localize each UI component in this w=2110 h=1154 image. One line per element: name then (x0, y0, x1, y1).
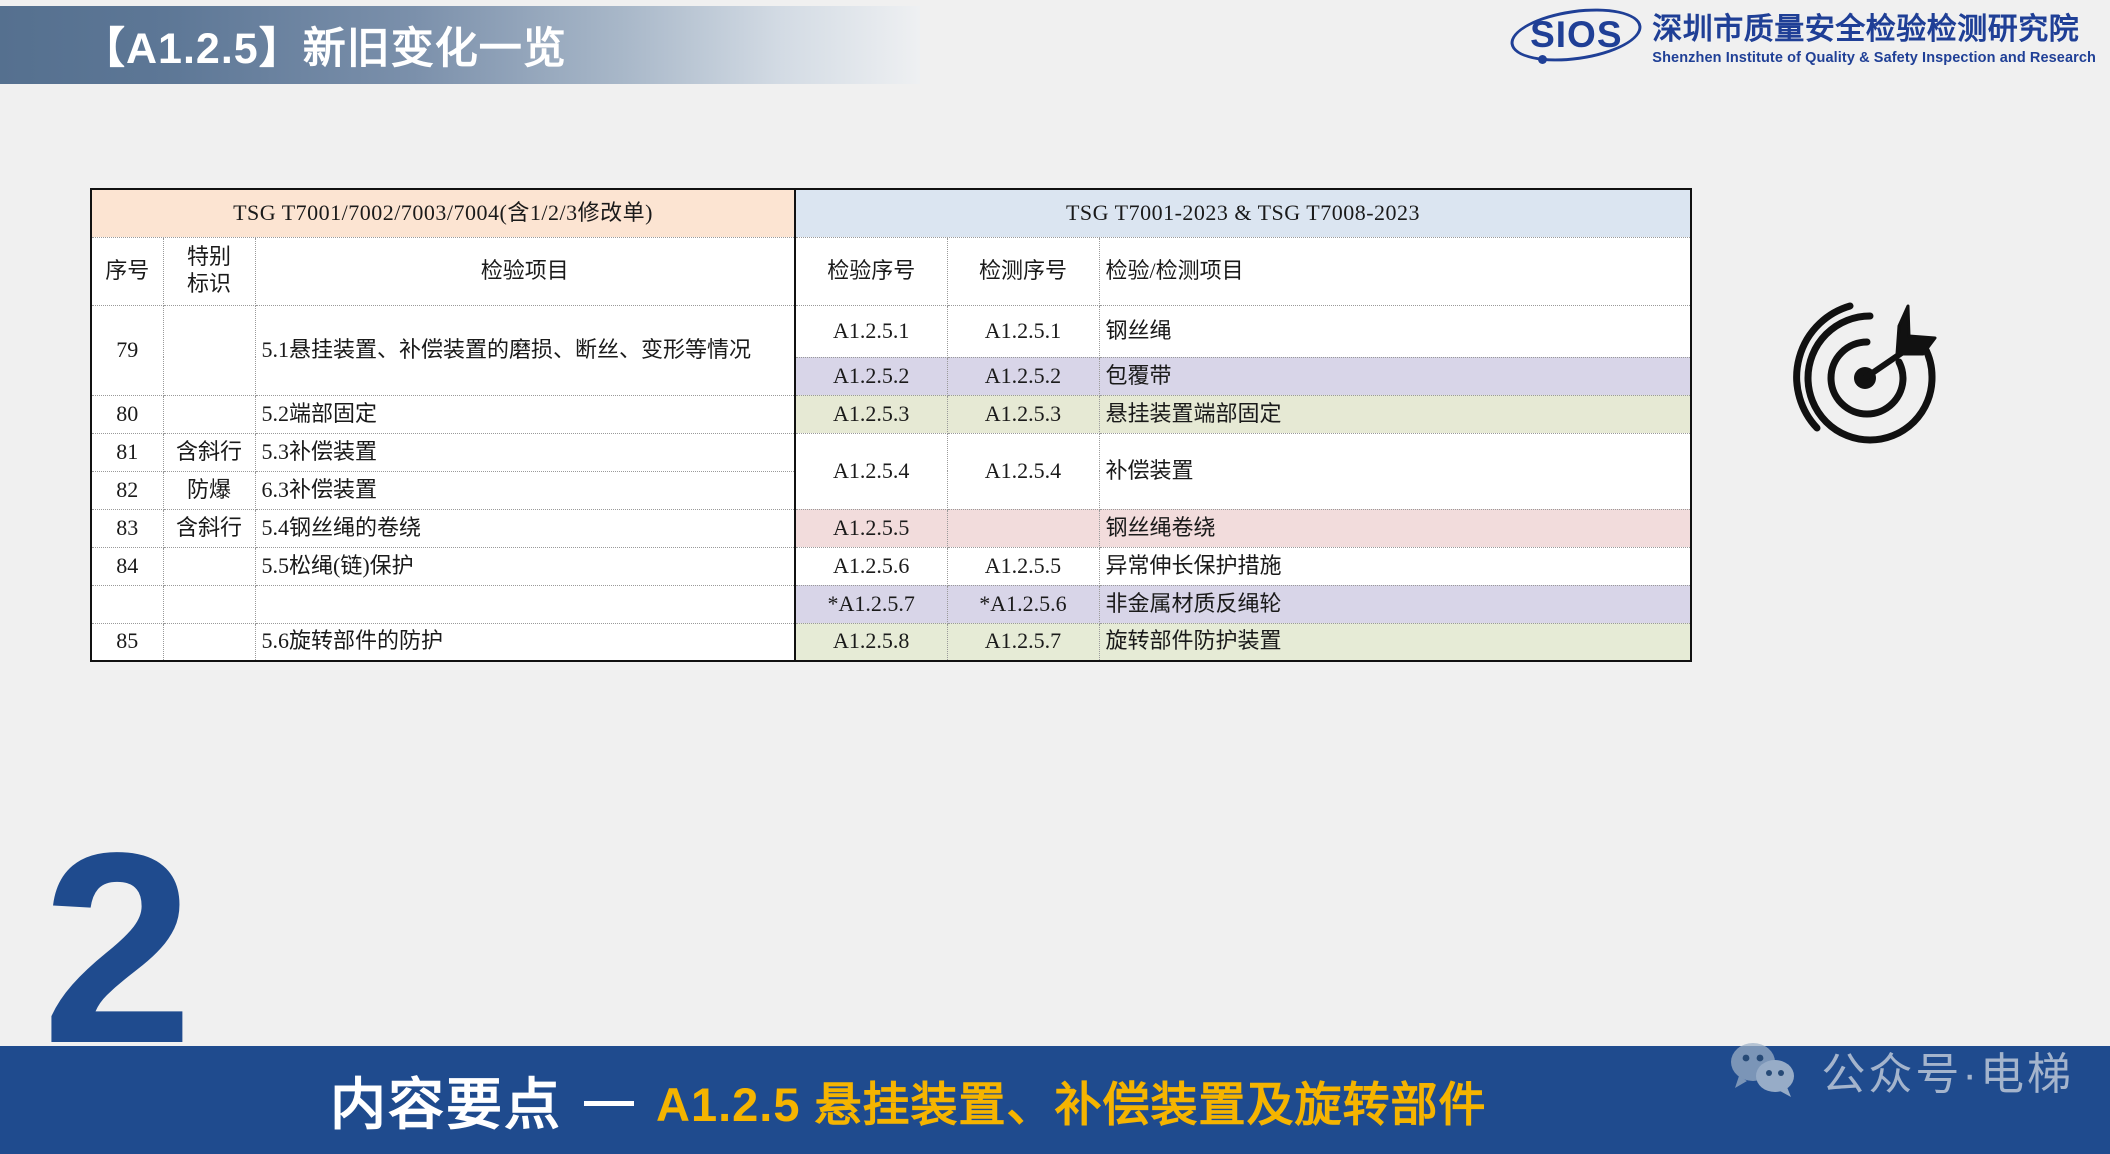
table-row: 83 含斜行 5.4钢丝绳的卷绕 A1.2.5.5 钢丝绳卷绕 (91, 509, 1691, 547)
cell-new-test: A1.2.5.1 (947, 305, 1099, 357)
table-row: 79 5.1悬挂装置、补偿装置的磨损、断丝、变形等情况 A1.2.5.1 A1.… (91, 305, 1691, 357)
cell-old-mark: 含斜行 (163, 433, 255, 471)
col-header-special-mark: 特别 标识 (163, 237, 255, 305)
group-header-old: TSG T7001/7002/7003/7004(含1/2/3修改单) (91, 189, 795, 237)
cell-old-mark: 含斜行 (163, 509, 255, 547)
col-header-special-mark-line2: 标识 (170, 271, 249, 298)
cell-old-item: 5.1悬挂装置、补偿装置的磨损、断丝、变形等情况 (255, 305, 795, 395)
cell-old-seq: 84 (91, 547, 163, 585)
cell-old-seq: 81 (91, 433, 163, 471)
cell-old-mark (163, 623, 255, 661)
cell-old-mark (163, 305, 255, 395)
group-header-new: TSG T7001-2023 & TSG T7008-2023 (795, 189, 1691, 237)
cell-new-test: A1.2.5.3 (947, 395, 1099, 433)
cell-new-item: 钢丝绳卷绕 (1099, 509, 1691, 547)
cell-new-insp: A1.2.5.6 (795, 547, 947, 585)
cell-new-insp: A1.2.5.8 (795, 623, 947, 661)
sios-logo-icon: SIOS (1510, 4, 1642, 66)
col-header-special-mark-line1: 特别 (170, 244, 249, 271)
section-number: 2 (42, 812, 193, 1084)
cell-new-test: *A1.2.5.6 (947, 585, 1099, 623)
cell-new-test: A1.2.5.4 (947, 433, 1099, 509)
watermark-text: 公众号·电梯 (1821, 1038, 2074, 1102)
cell-new-insp: A1.2.5.4 (795, 433, 947, 509)
cell-new-test: A1.2.5.2 (947, 357, 1099, 395)
comparison-table: TSG T7001/7002/7003/7004(含1/2/3修改单) TSG … (90, 188, 1692, 662)
organization-logo: SIOS 深圳市质量安全检验检测研究院 Shenzhen Institute o… (1510, 4, 2096, 66)
cell-new-item: 非金属材质反绳轮 (1099, 585, 1691, 623)
cell-new-insp: A1.2.5.2 (795, 357, 947, 395)
cell-old-item: 5.3补偿装置 (255, 433, 795, 471)
cell-old-seq: 79 (91, 305, 163, 395)
table-row: 84 5.5松绳(链)保护 A1.2.5.6 A1.2.5.5 异常伸长保护措施 (91, 547, 1691, 585)
cell-new-item: 异常伸长保护措施 (1099, 547, 1691, 585)
cell-old-item: 5.2端部固定 (255, 395, 795, 433)
cell-new-test: A1.2.5.7 (947, 623, 1099, 661)
table-group-header-row: TSG T7001/7002/7003/7004(含1/2/3修改单) TSG … (91, 189, 1691, 237)
cell-new-item: 钢丝绳 (1099, 305, 1691, 357)
cell-new-test: A1.2.5.5 (947, 547, 1099, 585)
cell-old-mark (163, 547, 255, 585)
cell-new-insp: *A1.2.5.7 (795, 585, 947, 623)
logo-dot-icon (1538, 55, 1547, 64)
wechat-icon (1725, 1040, 1803, 1100)
table-column-header-row: 序号 特别 标识 检验项目 检验序号 检测序号 检验/检测项目 (91, 237, 1691, 305)
cell-new-item: 悬挂装置端部固定 (1099, 395, 1691, 433)
table-row: *A1.2.5.7 *A1.2.5.6 非金属材质反绳轮 (91, 585, 1691, 623)
cell-new-insp: A1.2.5.1 (795, 305, 947, 357)
cell-old-item: 5.5松绳(链)保护 (255, 547, 795, 585)
cell-old-seq: 83 (91, 509, 163, 547)
cell-new-insp: A1.2.5.5 (795, 509, 947, 547)
target-arrow-icon (1775, 290, 1975, 465)
cell-old-mark (163, 395, 255, 433)
logo-text-block: 深圳市质量安全检验检测研究院 Shenzhen Institute of Qua… (1652, 4, 2096, 66)
wechat-watermark: 公众号·电梯 (1725, 1038, 2074, 1102)
cell-old-item (255, 585, 795, 623)
cell-old-seq (91, 585, 163, 623)
col-header-inspection-no: 检验序号 (795, 237, 947, 305)
col-header-inspection-item: 检验项目 (255, 237, 795, 305)
table-row: 81 含斜行 5.3补偿装置 A1.2.5.4 A1.2.5.4 补偿装置 (91, 433, 1691, 471)
cell-old-seq: 85 (91, 623, 163, 661)
cell-new-test (947, 509, 1099, 547)
cell-old-item: 5.4钢丝绳的卷绕 (255, 509, 795, 547)
comparison-table-container: TSG T7001/7002/7003/7004(含1/2/3修改单) TSG … (90, 188, 1690, 662)
cell-old-item: 5.6旋转部件的防护 (255, 623, 795, 661)
page-title: 【A1.2.5】新旧变化一览 (82, 14, 567, 76)
table-row: 80 5.2端部固定 A1.2.5.3 A1.2.5.3 悬挂装置端部固定 (91, 395, 1691, 433)
cell-old-mark (163, 585, 255, 623)
cell-old-seq: 80 (91, 395, 163, 433)
arrow-head-icon (1897, 306, 1935, 354)
col-header-testing-no: 检测序号 (947, 237, 1099, 305)
cell-new-item: 补偿装置 (1099, 433, 1691, 509)
cell-new-item: 包覆带 (1099, 357, 1691, 395)
cell-old-item: 6.3补偿装置 (255, 471, 795, 509)
title-banner: 【A1.2.5】新旧变化一览 (0, 6, 920, 84)
table-row: 85 5.6旋转部件的防护 A1.2.5.8 A1.2.5.7 旋转部件防护装置 (91, 623, 1691, 661)
cell-old-seq: 82 (91, 471, 163, 509)
cell-new-item: 旋转部件防护装置 (1099, 623, 1691, 661)
logo-chinese-name: 深圳市质量安全检验检测研究院 (1652, 4, 2096, 48)
col-header-seq: 序号 (91, 237, 163, 305)
col-header-item-new: 检验/检测项目 (1099, 237, 1691, 305)
cell-new-insp: A1.2.5.3 (795, 395, 947, 433)
logo-mark-text: SIOS (1530, 14, 1622, 56)
logo-english-name: Shenzhen Institute of Quality & Safety I… (1652, 50, 2096, 66)
cell-old-mark: 防爆 (163, 471, 255, 509)
